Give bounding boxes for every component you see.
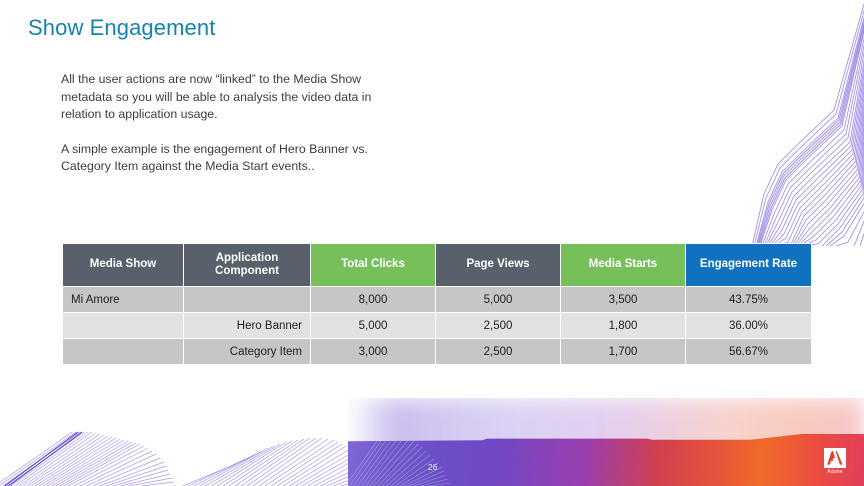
cell-engagement-rate: 43.75% (686, 287, 811, 312)
page-number: 26 (428, 463, 438, 472)
column-header-page-views[interactable]: Page Views (436, 244, 560, 286)
column-header-application-component[interactable]: Application Component (184, 244, 310, 286)
cell-page-views: 2,500 (436, 339, 560, 364)
adobe-logo-icon (824, 448, 846, 468)
table-row: Category Item 3,000 2,500 1,700 56.67% (63, 339, 811, 364)
gradient-footer-band: 26 Adobe (348, 398, 864, 486)
cell-application-component (184, 287, 310, 312)
cell-engagement-rate: 36.00% (686, 313, 811, 338)
paragraph-2: A simple example is the engagement of He… (61, 141, 391, 176)
table-row: Hero Banner 5,000 2,500 1,800 36.00% (63, 313, 811, 338)
cell-media-show (63, 339, 183, 364)
column-header-media-show[interactable]: Media Show (63, 244, 183, 286)
table-header-row: Media Show Application Component Total C… (63, 244, 811, 286)
slide-canvas: Show Engagement All the user actions are… (0, 0, 864, 486)
cell-page-views: 2,500 (436, 313, 560, 338)
cell-total-clicks: 3,000 (311, 339, 435, 364)
column-header-total-clicks[interactable]: Total Clicks (311, 244, 435, 286)
body-copy: All the user actions are now “linked” to… (61, 71, 391, 176)
adobe-logo-text: Adobe (820, 469, 850, 475)
cell-total-clicks: 8,000 (311, 287, 435, 312)
cell-application-component: Hero Banner (184, 313, 310, 338)
table-row: Mi Amore 8,000 5,000 3,500 43.75% (63, 287, 811, 312)
cell-total-clicks: 5,000 (311, 313, 435, 338)
column-header-media-starts[interactable]: Media Starts (561, 244, 685, 286)
paragraph-1: All the user actions are now “linked” to… (61, 71, 391, 124)
column-header-engagement-rate[interactable]: Engagement Rate (686, 244, 811, 286)
cell-media-starts: 1,700 (561, 339, 685, 364)
cell-media-show (63, 313, 183, 338)
cell-engagement-rate: 56.67% (686, 339, 811, 364)
adobe-logo: Adobe (820, 448, 850, 475)
mountain-line-pattern-icon (0, 396, 372, 486)
cell-page-views: 5,000 (436, 287, 560, 312)
page-title: Show Engagement (28, 15, 215, 41)
cell-media-show: Mi Amore (63, 287, 183, 312)
cell-media-starts: 1,800 (561, 313, 685, 338)
engagement-table: Media Show Application Component Total C… (62, 243, 812, 365)
cell-media-starts: 3,500 (561, 287, 685, 312)
band-solid (348, 434, 864, 486)
cell-application-component: Category Item (184, 339, 310, 364)
chevron-line-pattern-icon (738, 0, 864, 246)
